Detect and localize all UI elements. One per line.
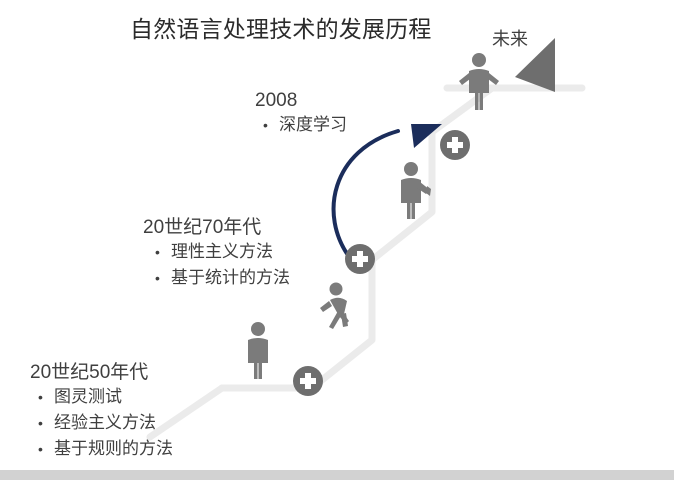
era-bullet: • 基于统计的方法 <box>143 265 290 291</box>
bullet-glyph: • <box>263 112 279 138</box>
person-standing-icon <box>248 322 268 379</box>
slide-canvas: 自然语言处理技术的发展历程 未来 2008 • 深度学习 20世纪70年代 • … <box>0 0 674 480</box>
bullet-glyph: • <box>38 436 54 462</box>
era-heading: 20世纪70年代 <box>143 212 290 239</box>
future-label: 未来 <box>492 25 528 51</box>
era-block-2008: 2008 • 深度学习 <box>255 90 347 138</box>
era-bullet-label: 基于统计的方法 <box>171 265 290 291</box>
era-bullet: • 深度学习 <box>255 112 347 138</box>
page-title: 自然语言处理技术的发展历程 <box>130 10 432 44</box>
bullet-glyph: • <box>155 265 171 291</box>
era-bullet: • 基于规则的方法 <box>30 436 173 462</box>
era-bullet: • 理性主义方法 <box>143 239 290 265</box>
bullet-glyph: • <box>38 384 54 410</box>
era-heading: 20世纪50年代 <box>30 357 173 384</box>
bullet-glyph: • <box>155 239 171 265</box>
bottom-divider-bar <box>0 470 674 480</box>
milestone-marker-1950s[interactable] <box>293 366 323 396</box>
milestone-marker-1970s[interactable] <box>345 244 375 274</box>
bullet-glyph: • <box>38 410 54 436</box>
person-pointing-icon <box>401 162 431 219</box>
milestone-marker-2008[interactable] <box>440 130 470 160</box>
era-bullet-label: 基于规则的方法 <box>54 436 173 462</box>
era-bullet: • 经验主义方法 <box>30 410 173 436</box>
era-bullet-label: 图灵测试 <box>54 384 122 410</box>
person-walking-icon <box>320 283 349 330</box>
era-block-1950s: 20世纪50年代 • 图灵测试 • 经验主义方法 • 基于规则的方法 <box>30 357 173 462</box>
era-bullet-label: 经验主义方法 <box>54 410 156 436</box>
era-bullet-label: 理性主义方法 <box>171 239 273 265</box>
era-bullet-label: 深度学习 <box>279 112 347 138</box>
era-heading: 2008 <box>255 90 347 112</box>
era-bullet: • 图灵测试 <box>30 384 173 410</box>
era-block-1970s: 20世纪70年代 • 理性主义方法 • 基于统计的方法 <box>143 212 290 291</box>
